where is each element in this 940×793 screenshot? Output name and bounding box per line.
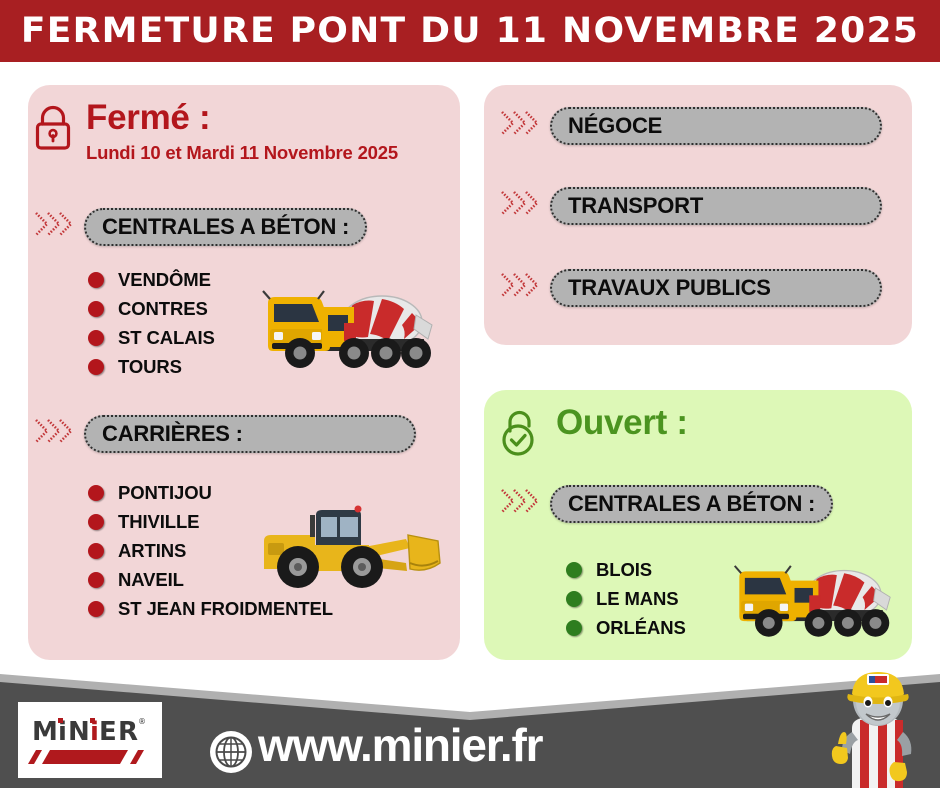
svg-text:R: R: [118, 717, 138, 747]
list-item: ST CALAIS: [88, 323, 215, 352]
bullet-dot-icon: [88, 601, 104, 617]
list-item-label: ST CALAIS: [118, 327, 215, 349]
pill-label: TRANSPORT: [568, 193, 703, 219]
activity-row-negoce: NÉGOCE: [496, 105, 882, 146]
pill-travaux-publics[interactable]: TRAVAUX PUBLICS: [550, 269, 882, 307]
header-banner: FERMETURE PONT DU 11 NOVEMBRE 2025: [0, 0, 940, 62]
pill-carrieres[interactable]: CARRIÈRES :: [84, 415, 416, 453]
double-chevron-right-icon: [30, 206, 72, 247]
list-item-label: CONTRES: [118, 298, 208, 320]
bullet-dot-icon: [88, 514, 104, 530]
bullet-dot-icon: [88, 272, 104, 288]
bullet-dot-icon: [88, 359, 104, 375]
pill-centrales-beton-open[interactable]: CENTRALES A BÉTON :: [550, 485, 833, 523]
svg-text:E: E: [99, 717, 117, 747]
bullet-dot-icon: [566, 562, 582, 578]
lock-open-check-icon: [498, 407, 542, 464]
closed-section-centrales-header: CENTRALES A BÉTON :: [30, 206, 367, 247]
list-item: CONTRES: [88, 294, 215, 323]
concrete-mixer-truck: [256, 277, 438, 382]
bullet-dot-icon: [88, 485, 104, 501]
bullet-dot-icon: [88, 330, 104, 346]
lock-closed-icon: [32, 104, 74, 157]
pill-centrales-beton-closed[interactable]: CENTRALES A BÉTON :: [84, 208, 367, 246]
globe-icon: [209, 730, 253, 779]
closed-subtitle: Lundi 10 et Mardi 11 Novembre 2025: [86, 142, 398, 164]
closed-heading: Fermé : Lundi 10 et Mardi 11 Novembre 20…: [32, 100, 398, 164]
closed-centrales-list: VENDÔME CONTRES ST CALAIS TOURS: [88, 265, 215, 381]
open-heading: Ouvert :: [498, 405, 688, 464]
open-centrales-list: BLOIS LE MANS ORLÉANS: [566, 555, 686, 642]
pill-transport[interactable]: TRANSPORT: [550, 187, 882, 225]
list-item: LE MANS: [566, 584, 686, 613]
mascot-worker-thumbs-up: [824, 666, 936, 793]
pill-negoce[interactable]: NÉGOCE: [550, 107, 882, 145]
list-item-label: TOURS: [118, 356, 182, 378]
page-title: FERMETURE PONT DU 11 NOVEMBRE 2025: [21, 11, 919, 51]
closed-section-carrieres-header: CARRIÈRES :: [30, 413, 416, 454]
list-item: BLOIS: [566, 555, 686, 584]
minier-logo: M i N i E R ®: [18, 702, 162, 778]
pill-label: CENTRALES A BÉTON :: [102, 214, 349, 240]
pill-label: CARRIÈRES :: [102, 421, 243, 447]
pill-label: CENTRALES A BÉTON :: [568, 491, 815, 517]
pill-label: TRAVAUX PUBLICS: [568, 275, 771, 301]
list-item-label: ARTINS: [118, 540, 186, 562]
list-item-label: ST JEAN FROIDMENTEL: [118, 598, 333, 620]
list-item-label: THIVILLE: [118, 511, 199, 533]
list-item-label: NAVEIL: [118, 569, 184, 591]
double-chevron-right-icon: [496, 105, 538, 146]
list-item: ORLÉANS: [566, 613, 686, 642]
website-url[interactable]: www.minier.fr: [258, 718, 542, 772]
list-item-label: LE MANS: [596, 588, 679, 610]
double-chevron-right-icon: [496, 483, 538, 524]
bullet-dot-icon: [88, 543, 104, 559]
list-item-label: PONTIJOU: [118, 482, 212, 504]
open-section-header: CENTRALES A BÉTON :: [496, 483, 833, 524]
open-title: Ouvert :: [556, 405, 688, 442]
closed-title: Fermé :: [86, 100, 398, 137]
bullet-dot-icon: [88, 572, 104, 588]
activity-row-transport: TRANSPORT: [496, 185, 882, 226]
bullet-dot-icon: [566, 591, 582, 607]
double-chevron-right-icon: [496, 267, 538, 308]
double-chevron-right-icon: [496, 185, 538, 226]
pill-label: NÉGOCE: [568, 113, 662, 139]
list-item: ST JEAN FROIDMENTEL: [88, 594, 333, 623]
activity-row-travaux-publics: TRAVAUX PUBLICS: [496, 267, 882, 308]
double-chevron-right-icon: [30, 413, 72, 454]
list-item: TOURS: [88, 352, 215, 381]
svg-text:N: N: [68, 717, 90, 747]
concrete-mixer-truck: [726, 553, 898, 650]
bullet-dot-icon: [88, 301, 104, 317]
list-item: VENDÔME: [88, 265, 215, 294]
svg-text:M: M: [32, 717, 57, 747]
list-item-label: ORLÉANS: [596, 617, 686, 639]
list-item-label: BLOIS: [596, 559, 652, 581]
list-item-label: VENDÔME: [118, 269, 211, 291]
logo-trademark: ®: [138, 717, 146, 726]
wheel-loader: [258, 497, 448, 598]
bullet-dot-icon: [566, 620, 582, 636]
